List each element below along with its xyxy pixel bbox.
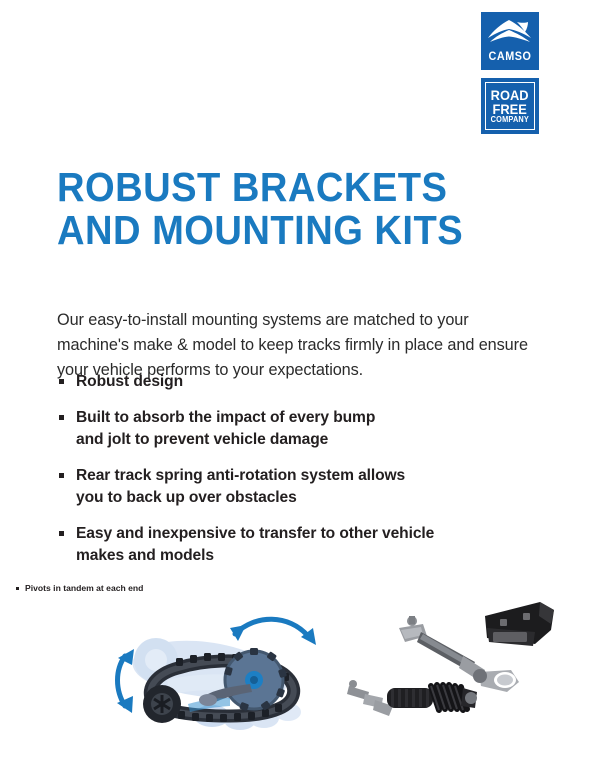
coil-spring bbox=[431, 685, 467, 710]
square-bullet-icon bbox=[59, 415, 64, 420]
list-item-line-1: Robust design bbox=[76, 371, 527, 393]
list-item: Rear track spring anti-rotation system a… bbox=[57, 465, 527, 509]
list-item-line-2: makes and models bbox=[76, 545, 527, 567]
brand-logo-block: CAMSO ROAD FREE COMPANY bbox=[478, 12, 542, 134]
road-free-company-logo: ROAD FREE COMPANY bbox=[481, 78, 539, 134]
page-title-line-1: ROBUST BRACKETS bbox=[57, 166, 457, 209]
list-item-line-1: Built to absorb the impact of every bump bbox=[76, 407, 527, 429]
horizontal-pivot-arrow bbox=[230, 619, 316, 645]
page-title: ROBUST BRACKETS AND MOUNTING KITS bbox=[57, 166, 457, 252]
road-free-inner-frame: ROAD FREE COMPANY bbox=[485, 82, 535, 130]
footnote: Pivots in tandem at each end bbox=[16, 583, 143, 593]
square-bullet-icon bbox=[59, 473, 64, 478]
square-bullet-icon bbox=[59, 379, 64, 384]
feature-list: Robust design Built to absorb the impact… bbox=[57, 371, 527, 581]
black-mounting-bracket bbox=[485, 602, 554, 646]
list-item-line-2: you to back up over obstacles bbox=[76, 487, 527, 509]
list-item: Built to absorb the impact of every bump… bbox=[57, 407, 527, 451]
vertical-pivot-arrow bbox=[117, 649, 134, 713]
rubber-track-pivot-illustration bbox=[112, 608, 327, 736]
spring-damper-assembly bbox=[347, 680, 477, 716]
camso-logo: CAMSO bbox=[481, 12, 539, 70]
list-item-line-2: and jolt to prevent vehicle damage bbox=[76, 429, 527, 451]
list-item-line-1: Easy and inexpensive to transfer to othe… bbox=[76, 523, 527, 545]
mounting-hardware-photo bbox=[335, 588, 560, 728]
square-bullet-icon bbox=[59, 531, 64, 536]
square-bullet-icon bbox=[16, 587, 19, 590]
road-free-line-2: FREE bbox=[493, 102, 527, 116]
list-item-line-1: Rear track spring anti-rotation system a… bbox=[76, 465, 527, 487]
camso-swoosh-icon bbox=[487, 19, 533, 45]
list-item: Easy and inexpensive to transfer to othe… bbox=[57, 523, 527, 567]
page-title-line-2: AND MOUNTING KITS bbox=[57, 209, 457, 252]
camso-wordmark: CAMSO bbox=[483, 51, 538, 63]
footnote-text: Pivots in tandem at each end bbox=[25, 583, 143, 593]
road-free-line-3: COMPANY bbox=[491, 116, 529, 124]
road-free-line-1: ROAD bbox=[491, 88, 529, 102]
list-item: Robust design bbox=[57, 371, 527, 393]
